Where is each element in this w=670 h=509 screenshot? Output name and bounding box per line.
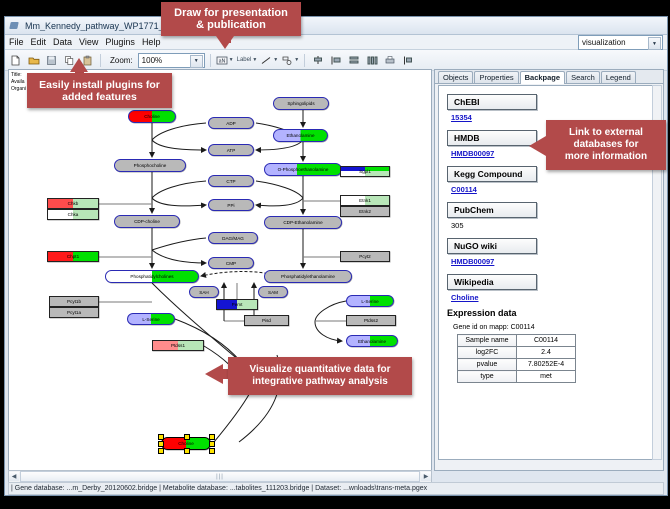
db-section-nugo: NuGO wiki HMDB00097 <box>447 236 660 266</box>
window-titlebar: Mm_Kennedy_pathway_WP1771_45176.gpml <box>5 17 667 35</box>
node-label: CMP <box>226 261 236 266</box>
expr-label-sample-name: Sample name <box>458 335 517 347</box>
node-label: Ethanolamine <box>358 339 386 344</box>
node-sah[interactable]: SAH <box>189 286 219 298</box>
menu-item-file[interactable]: File <box>9 37 24 47</box>
node-pemt[interactable]: Pemt <box>216 299 258 310</box>
callout-draw-arrow-icon <box>216 36 234 49</box>
db-link-nugo[interactable]: HMDB00097 <box>451 257 660 266</box>
callout-draw-text: Draw for presentation & publication <box>174 7 288 31</box>
node-pcyt2[interactable]: Pcyt2 <box>340 251 390 262</box>
chevron-down-icon-2[interactable]: ▼ <box>229 57 234 63</box>
menubar: File Edit Data View Plugins Help <box>5 35 667 50</box>
node-label: Phosphocholine <box>134 163 167 168</box>
open-folder-icon[interactable] <box>26 53 41 68</box>
node-pcyt1b[interactable]: Pcyt1b <box>49 296 99 307</box>
distribute-icon[interactable] <box>364 53 379 68</box>
node-label: SAM <box>268 290 278 295</box>
node-label: ADP <box>226 121 235 126</box>
menu-item-plugins[interactable]: Plugins <box>105 37 135 47</box>
scroll-left-icon[interactable]: ◀ <box>9 472 19 481</box>
pathway-canvas-container[interactable]: Title: Availa Organi <box>8 69 432 471</box>
node-label: Pcyt1b <box>67 299 81 304</box>
node-ppi[interactable]: PPi <box>208 199 254 211</box>
node-ctp[interactable]: CTP <box>208 175 254 187</box>
node-label: Pcyt1a <box>67 310 81 315</box>
node-phosphatidylethanolamine[interactable]: Phosphatidylethanolamine <box>264 270 352 283</box>
node-label: SAH <box>199 290 208 295</box>
visualization-value: visualization <box>582 38 626 47</box>
db-section-pubchem: PubChem 305 <box>447 200 660 230</box>
expr-value-log2fc: 2.4 <box>517 347 576 359</box>
node-sphingolipids[interactable]: Sphingolipids <box>273 97 329 110</box>
node-ethanolamine-bottom[interactable]: Ethanolamine <box>346 335 398 347</box>
selection-handle-w[interactable] <box>158 441 164 447</box>
tab-legend[interactable]: Legend <box>601 71 636 83</box>
node-label: CTP <box>226 179 235 184</box>
node-l-serine-left[interactable]: L-Serine <box>127 313 175 325</box>
save-icon[interactable] <box>44 53 59 68</box>
expr-label-type: type <box>458 371 517 383</box>
node-label: Ptdss2 <box>364 318 378 323</box>
statusbar-text: | Gene database: ...m_Derby_20120602.bri… <box>11 485 427 492</box>
selection-handle-e[interactable] <box>209 441 215 447</box>
node-label: Choline <box>178 441 194 446</box>
callout-links-arrow-icon <box>529 136 546 156</box>
node-cdp-ethanolamine[interactable]: CDP-Ethanolamine <box>264 216 342 229</box>
line-tool-icon[interactable]: ▼ <box>260 55 278 66</box>
node-label: Chpt1 <box>67 254 79 259</box>
align-center-icon[interactable] <box>310 53 325 68</box>
sidepanel-tabs: Objects Properties Backpage Search Legen… <box>435 70 663 84</box>
align-left-icon[interactable] <box>328 53 343 68</box>
node-pisd[interactable]: Pisd <box>244 315 289 326</box>
callout-links-text: Link to external databases for more info… <box>565 127 647 163</box>
zoom-value: 100% <box>142 56 162 65</box>
menu-item-view[interactable]: View <box>79 37 98 47</box>
node-atp[interactable]: ATP <box>208 144 254 156</box>
expr-value-sample-name: C00114 <box>517 335 576 347</box>
node-label: CDP-choline <box>134 219 160 224</box>
node-label: L-Serine <box>142 317 159 322</box>
node-chpt1[interactable]: Chpt1 <box>47 251 99 262</box>
callout-plugins: Easily install plugins for added feature… <box>27 73 172 108</box>
gene-id-line: Gene id on mapp: C00114 <box>453 324 660 331</box>
selection-handle-nw[interactable] <box>158 434 164 440</box>
callout-plugins-text: Easily install plugins for added feature… <box>39 79 160 103</box>
node-phosphocholine[interactable]: Phosphocholine <box>114 159 186 172</box>
node-label: O-Phosphoethanolamine <box>278 167 329 172</box>
chevron-down-icon-5[interactable]: ▼ <box>294 57 299 63</box>
expr-value-pvalue: 7.80252E-4 <box>517 359 576 371</box>
node-ethanolamine-top[interactable]: Ethanolamine <box>273 129 328 142</box>
node-pcyt1a[interactable]: Pcyt1a <box>49 307 99 318</box>
tab-properties[interactable]: Properties <box>474 71 518 83</box>
db-header-pubchem: PubChem <box>447 202 537 218</box>
print-icon[interactable] <box>382 53 397 68</box>
node-label: Ptdss1 <box>171 343 185 348</box>
node-label: Etnk1 <box>359 198 371 203</box>
screenshot-root: Mm_Kennedy_pathway_WP1771_45176.gpml Fil… <box>0 0 670 509</box>
svg-text:aN: aN <box>218 58 225 64</box>
selection-handle-n[interactable] <box>184 434 190 440</box>
new-file-icon[interactable] <box>8 53 23 68</box>
node-sam[interactable]: SAM <box>258 286 288 298</box>
scroll-right-icon[interactable]: ▶ <box>421 472 431 481</box>
node-choline-top[interactable]: Choline <box>128 110 176 123</box>
expr-value-type: met <box>517 371 576 383</box>
label-tool-caption: Label <box>237 57 252 63</box>
menu-item-data[interactable]: Data <box>53 37 72 47</box>
node-label: Ethanolamine <box>286 133 314 138</box>
order-icon[interactable] <box>400 53 415 68</box>
db-link-wikipedia[interactable]: Choline <box>451 293 660 302</box>
db-header-kegg: Kegg Compound <box>447 166 537 182</box>
node-label: Chka <box>68 212 79 217</box>
toolbar-divider-3 <box>304 54 305 67</box>
pathway-canvas[interactable]: Title: Availa Organi <box>9 70 429 470</box>
db-link-kegg[interactable]: C00114 <box>451 185 660 194</box>
db-header-wikipedia: Wikipedia <box>447 274 537 290</box>
tab-search[interactable]: Search <box>566 71 600 83</box>
node-etnk2[interactable]: Etnk2 <box>340 206 390 217</box>
menu-item-help[interactable]: Help <box>142 37 161 47</box>
selection-handle-s[interactable] <box>184 448 190 454</box>
table-row: Sample name C00114 <box>458 335 576 347</box>
db-header-nugo: NuGO wiki <box>447 238 537 254</box>
callout-links: Link to external databases for more info… <box>546 120 666 170</box>
callout-draw: Draw for presentation & publication <box>161 2 301 36</box>
db-header-hmdb: HMDB <box>447 130 537 146</box>
zoom-label: Zoom: <box>110 56 133 65</box>
node-label: Pcyt2 <box>359 254 371 259</box>
callout-plugins-arrow-icon <box>70 58 88 72</box>
expr-label-log2fc: log2FC <box>458 347 517 359</box>
node-etnk1[interactable]: Etnk1 <box>340 195 390 206</box>
node-label: PPi <box>227 203 234 208</box>
node-label: Sphingolipids <box>287 101 314 106</box>
tab-objects[interactable]: Objects <box>438 71 473 83</box>
node-label: CDP-Ethanolamine <box>283 220 322 225</box>
statusbar: | Gene database: ...m_Derby_20120602.bri… <box>8 482 664 495</box>
node-cdp-choline[interactable]: CDP-choline <box>114 215 180 228</box>
scroll-thumb[interactable]: ||| <box>20 471 420 482</box>
toolbar-divider-2 <box>210 54 211 67</box>
node-label: L-Serine <box>361 299 378 304</box>
app-icon <box>9 20 20 31</box>
node-l-serine-right[interactable]: L-Serine <box>346 295 394 307</box>
toolbar-divider <box>100 54 101 67</box>
node-dagmag[interactable]: DAG/MAG <box>208 232 258 244</box>
callout-visualize-arrow-icon <box>205 364 223 384</box>
menu-item-edit[interactable]: Edit <box>31 37 47 47</box>
align-rows-icon[interactable] <box>346 53 361 68</box>
node-cmp[interactable]: CMP <box>208 257 254 269</box>
chevron-down-icon-3[interactable]: ▼ <box>252 57 257 63</box>
node-label: Chkb <box>68 201 79 206</box>
selection-handle-ne[interactable] <box>209 434 215 440</box>
chevron-down-icon[interactable]: ▼ <box>190 55 203 68</box>
node-ptdss2[interactable]: Ptdss2 <box>346 315 396 326</box>
node-sgpl1[interactable]: Sgpl1 <box>340 166 390 177</box>
datanode-tool-icon[interactable]: aN ▼ <box>216 55 234 66</box>
node-label: DAG/MAG <box>222 236 244 241</box>
node-label: Choline <box>144 114 160 119</box>
callout-visualize: Visualize quantitative data for integrat… <box>228 357 412 395</box>
node-label: Sgpl1 <box>359 169 371 174</box>
table-row: pvalue 7.80252E-4 <box>458 359 576 371</box>
node-phosphatidylcholines[interactable]: Phosphatidylcholines <box>105 270 199 283</box>
chevron-down-icon-vis[interactable]: ▼ <box>648 37 661 50</box>
db-section-wikipedia: Wikipedia Choline <box>447 272 660 302</box>
node-label: ATP <box>227 148 236 153</box>
table-row: type met <box>458 371 576 383</box>
node-adp[interactable]: ADP <box>208 117 254 129</box>
zoom-combo[interactable]: 100% ▼ <box>138 53 205 68</box>
db-value-pubchem: 305 <box>451 221 660 230</box>
expr-label-pvalue: pvalue <box>458 359 517 371</box>
expression-data-header: Expression data <box>447 308 660 318</box>
node-chkb[interactable]: Chkb <box>47 198 99 209</box>
tab-backpage[interactable]: Backpage <box>520 71 565 84</box>
selection-handle-sw[interactable] <box>158 448 164 454</box>
node-o-phosphoethanolamine[interactable]: O-Phosphoethanolamine <box>264 163 342 176</box>
shape-tool-icon[interactable]: ▼ <box>281 55 299 66</box>
label-tool-icon[interactable]: Label ▼ <box>237 57 258 63</box>
visualization-combo[interactable]: visualization ▼ <box>578 35 663 50</box>
node-label: Phosphatidylcholines <box>130 274 173 279</box>
pathway-connectors <box>9 70 429 470</box>
callout-visualize-text: Visualize quantitative data for integrat… <box>250 364 391 388</box>
chevron-down-icon-4[interactable]: ▼ <box>273 57 278 63</box>
node-label: Etnk2 <box>359 209 371 214</box>
node-ptdss1[interactable]: Ptdss1 <box>152 340 204 351</box>
toolbar: Zoom: 100% ▼ aN ▼ Label ▼ ▼ ▼ <box>5 50 667 71</box>
db-section-chebi: ChEBI 15354 <box>447 92 660 122</box>
node-label: Pemt <box>232 302 243 307</box>
node-chka[interactable]: Chka <box>47 209 99 220</box>
node-label: Pisd <box>262 318 271 323</box>
node-label: Phosphatidylethanolamine <box>281 274 335 279</box>
db-header-chebi: ChEBI <box>447 94 537 110</box>
selection-handle-se[interactable] <box>209 448 215 454</box>
table-row: log2FC 2.4 <box>458 347 576 359</box>
expression-table: Sample name C00114 log2FC 2.4 pvalue 7.8… <box>457 334 576 383</box>
